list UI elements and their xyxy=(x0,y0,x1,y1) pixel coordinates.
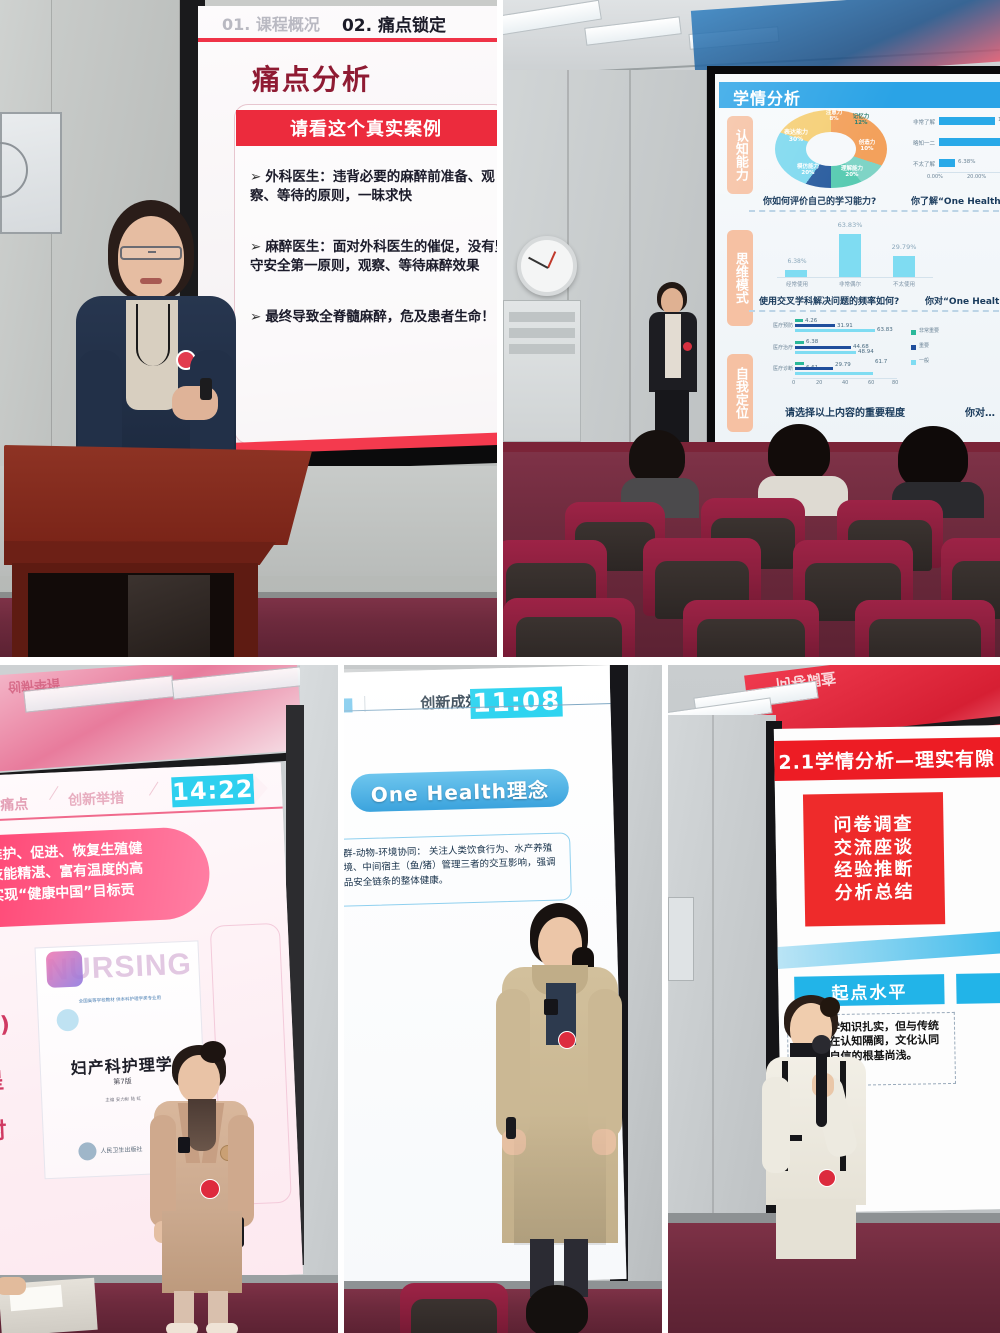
ribbon-label: 请看这个真实案例 xyxy=(290,115,442,141)
lecturer-3 xyxy=(148,1045,258,1333)
hair xyxy=(898,426,968,490)
ghbar-1-s2 xyxy=(795,351,856,354)
panel-bottom-right[interactable]: 问卷调查 2.1学情分析—理实有隙 问卷调查 交流座谈 经验推断 分析总结 xyxy=(668,665,1000,1333)
chart-2-question: 你了解“One Health”理念吗? xyxy=(911,194,1000,207)
donut-label-1: 注意力8% xyxy=(821,110,847,122)
hbar-value-2: 6.38% xyxy=(958,159,975,165)
donut-label-2: 记忆力12% xyxy=(847,114,875,126)
seat[interactable] xyxy=(855,600,995,657)
nav-underline xyxy=(198,38,497,42)
vbar-label-2: 不太使用 xyxy=(883,280,925,288)
methods-line-2: 交流座谈 xyxy=(834,836,914,860)
led-wall-screen: 学情分析 认知能力 思维模式 自我定位 表达能力30% 注意力8% 记忆力12%… xyxy=(715,74,1000,446)
methods-line-3: 经验推断 xyxy=(834,859,914,883)
headline-blob: …、维护、促进、恢复生殖健 …、技能精湛、富有温度的高 …、实现“健康中国”目标… xyxy=(0,826,211,929)
lecturer-1 xyxy=(60,200,260,460)
chart-6-question-partial: 你对… xyxy=(965,404,1000,419)
legend-label-0: 非常重要 xyxy=(919,327,939,334)
coat-shadow xyxy=(514,1113,606,1245)
slide-nav: 01. 课程概况 02. 痛点锁定 xyxy=(198,8,497,38)
lecturer-5 xyxy=(764,995,872,1285)
timer-badge: 11:08 xyxy=(470,686,563,719)
legend-dot-2 xyxy=(911,360,916,365)
chart-grouped-hbar-importance: 医疗预防 4.26 31.91 63.83 医疗治疗 6.38 44.68 48… xyxy=(761,318,941,396)
shoe-left xyxy=(166,1323,198,1333)
inner-top xyxy=(665,314,681,378)
microphone-head xyxy=(812,1035,831,1054)
left-wall-seam xyxy=(712,715,714,1215)
wall-fixture xyxy=(668,897,694,981)
glasses-icon xyxy=(120,246,182,260)
bullet-2: ➢麻醉医生：面对外科医生的催促，没有坚守安全第一原则，观察、等待麻醉效果 xyxy=(250,238,497,275)
lecturer-4 xyxy=(496,903,624,1313)
arm-left xyxy=(762,1077,790,1173)
chart-3-question: 使用交叉学科解决问题的频率如何? xyxy=(759,294,899,307)
mic-pack xyxy=(178,1137,190,1153)
nav-item-pain[interactable]: 教学痛点 xyxy=(0,794,29,816)
ghbar-val-2-s2: 61.7 xyxy=(875,359,887,365)
section-divider-2 xyxy=(749,310,999,312)
donut-label-4: 理解能力20% xyxy=(837,166,867,178)
methods-line-1: 问卷调查 xyxy=(833,814,913,838)
category-tag-selfposition[interactable]: 自我定位 xyxy=(727,354,753,432)
vbar-value-1: 63.83% xyxy=(829,221,871,229)
hbar-axis xyxy=(937,172,1000,173)
badge xyxy=(818,1169,836,1187)
donut-hole xyxy=(806,132,855,166)
ghbar-2-s2 xyxy=(795,372,873,375)
panel-bottom-center[interactable]: 创新成效 11:08 One Health理念 人群-动物-环境协同： 关注人类… xyxy=(344,665,662,1333)
ghbar-tick-4: 80 xyxy=(892,380,898,386)
slide-title: 痛点分析 xyxy=(252,58,372,98)
slide-header-label: 2.1学情分析—理实有隙 xyxy=(778,744,995,775)
donut-label-0: 表达能力30% xyxy=(779,130,813,143)
publisher-logo xyxy=(78,1142,97,1161)
vbar-label-0: 经常使用 xyxy=(777,280,817,288)
legend-dot-0 xyxy=(911,330,916,335)
vbar-axis xyxy=(777,277,933,278)
ghbar-tick-1: 20 xyxy=(816,380,822,386)
hbar-label-2: 不太了解 xyxy=(899,160,935,168)
mouth xyxy=(140,278,162,284)
vbar-value-0: 6.38% xyxy=(777,258,817,265)
vbar-value-2: 29.79% xyxy=(883,243,925,251)
panel-top-left[interactable]: 01. 课程概况 02. 痛点锁定 痛点分析 请看这个真实案例 ➢外科医生：违背… xyxy=(0,0,497,657)
timer-badge: 14:22 xyxy=(171,774,254,808)
bullet-lead: 外科医生： xyxy=(265,169,333,185)
photo-collage: 01. 课程概况 02. 痛点锁定 痛点分析 请看这个真实案例 ➢外科医生：违背… xyxy=(0,0,1000,1333)
body-text: 人群-动物-环境协同： 关注人类饮食行为、水产养殖环境、中间宿主（鱼/猪）管理三… xyxy=(344,843,556,889)
chart-hbar-one-health-awareness: 非常了解 19.15% 略知一二 74.47% 不太了解 6.38% 0.00%… xyxy=(909,114,1000,190)
side-wall-seam-2 xyxy=(629,70,631,442)
section-divider-1 xyxy=(749,210,999,212)
audience-1 xyxy=(619,430,703,510)
ghbar-label-1: 医疗治疗 xyxy=(753,344,793,351)
wall-panel-a xyxy=(0,0,52,470)
glasses-bridge xyxy=(148,251,156,253)
clicker-remote xyxy=(200,378,212,400)
cabinet-row-3 xyxy=(509,344,575,354)
gutter-horizontal xyxy=(0,657,1000,665)
scarf xyxy=(188,1099,216,1151)
book-fineprint: 全国高等学校教材 供本科护理学类专业用 xyxy=(54,994,186,1007)
nursing-mark-shape xyxy=(46,950,84,988)
vbar-1 xyxy=(839,234,861,277)
badge xyxy=(200,1179,220,1199)
bullet-1: ➢外科医生：违背必要的麻醉前准备、观察、等待的原则，一昧求快 xyxy=(250,168,497,205)
chart-5-question: 请选择以上内容的重要程度 xyxy=(785,404,905,419)
ghbar-val-2-s1: 29.79 xyxy=(835,362,851,368)
hair xyxy=(526,1285,588,1333)
section-pill-title: One Health理念 xyxy=(350,768,569,812)
cabinet-row-1 xyxy=(509,312,575,322)
badge xyxy=(683,342,692,351)
seat[interactable] xyxy=(503,598,635,657)
body-textbox: 人群-动物-环境协同： 关注人类饮食行为、水产养殖环境、中间宿主（鱼/猪）管理三… xyxy=(344,832,572,907)
donut-label-5: 模仿能力20% xyxy=(791,164,825,176)
ghbar-label-2: 医疗诊断 xyxy=(753,365,793,372)
lecturer-2 xyxy=(643,282,703,442)
ghbar-val-1-s0: 6.38 xyxy=(806,339,818,345)
right-wall-strip xyxy=(300,665,338,1333)
ghbar-0-s0 xyxy=(795,319,803,322)
badge xyxy=(558,1031,576,1049)
category-tag-cognitive[interactable]: 认知能力 xyxy=(727,116,753,194)
ghbar-2-s0 xyxy=(795,362,804,365)
panel-top-right[interactable]: 学情分析 认知能力 思维模式 自我定位 表达能力30% 注意力8% 记忆力12%… xyxy=(503,0,1000,657)
startpoint-header-right xyxy=(956,973,1000,1004)
face xyxy=(661,288,683,314)
ghbar-0-s1 xyxy=(795,324,835,327)
ghbar-val-0-s2: 63.83 xyxy=(877,327,893,333)
ghbar-0-s2 xyxy=(795,329,875,332)
skirt-bottom xyxy=(162,1211,242,1293)
hbar-tick-1: 20.00% xyxy=(967,174,986,180)
nav-item-01[interactable]: 01. 课程概况 xyxy=(222,11,320,35)
hand-on-desk xyxy=(0,1277,26,1295)
chart-donut-learning-ability: 表达能力30% 注意力8% 记忆力12% 创造力10% 理解能力20% 模仿能力… xyxy=(775,110,887,188)
timer-arrow xyxy=(253,773,268,804)
dashboard-header-label: 学情分析 xyxy=(733,85,801,109)
book-seal xyxy=(56,1009,79,1032)
ghbar-tick-0: 0 xyxy=(792,380,795,386)
mic-pack xyxy=(544,999,558,1015)
ghbar-label-0: 医疗预防 xyxy=(753,322,793,329)
shoe-right xyxy=(206,1323,238,1333)
ghbar-val-1-s2: 48.94 xyxy=(858,349,874,355)
bullet-marker: ➢ xyxy=(250,169,261,185)
methods-box: 问卷调查 交流座谈 经验推断 分析总结 xyxy=(803,792,945,926)
hair xyxy=(629,430,685,484)
donut-label-3: 创造力10% xyxy=(853,140,881,152)
slide-ribbon: 请看这个真实案例 xyxy=(254,110,497,146)
hbar-1 xyxy=(939,138,1000,146)
gutter-vertical-bl xyxy=(338,665,344,1333)
ghbar-tick-3: 60 xyxy=(868,380,874,386)
hbar-label-0: 非常了解 xyxy=(899,118,935,126)
seat[interactable] xyxy=(683,600,819,657)
hbar-0 xyxy=(939,117,995,125)
chart-1-question: 你如何评价自己的学习能力? xyxy=(763,194,876,207)
hair-bun xyxy=(200,1041,226,1063)
hair xyxy=(768,424,830,482)
legend-dot-1 xyxy=(911,345,916,350)
right-wall-strip xyxy=(626,665,662,1333)
methods-line-4: 分析总结 xyxy=(834,881,914,905)
nav-item-02[interactable]: 02. 痛点锁定 xyxy=(342,11,446,36)
legend-label-2: 一般 xyxy=(919,357,929,364)
side-fragment-2: 下) xyxy=(0,1007,11,1040)
chart-vbar-interdisciplinary-frequency: 6.38% 经常使用 63.83% 非常偶尔 29.79% 不太使用 xyxy=(777,218,937,290)
ghbar-1-s0 xyxy=(795,341,804,344)
panel-bottom-left[interactable]: 创新举措 教学痛点 创新举措 14:22 …、维护、促进、恢复生殖健 …、技能精… xyxy=(0,665,338,1333)
hbar-2 xyxy=(939,159,955,167)
bullet-text: 最终导致全脊髓麻醉，危及患者生命！ xyxy=(265,309,495,325)
cabinet-row-2 xyxy=(509,328,575,338)
ghbar-axis xyxy=(793,378,897,379)
ghbar-1-s1 xyxy=(795,346,851,349)
audience-head xyxy=(518,1285,598,1333)
hbar-tick-0: 0.00% xyxy=(927,174,943,180)
vbar-0 xyxy=(785,270,807,277)
gutter-vertical-br xyxy=(662,665,668,1333)
nav-item-innovation[interactable]: 创新举措 xyxy=(68,787,125,809)
bullet-lead: 麻醉医生： xyxy=(265,239,333,255)
bullet-3: ➢最终导致全脊髓麻醉，危及患者生命！ xyxy=(250,308,497,327)
ghbar-2-s1 xyxy=(795,367,833,370)
lanyard-mic xyxy=(136,304,170,366)
skirt xyxy=(776,1199,856,1259)
chart-4-question-partial: 你对“One Health”了解多久了? xyxy=(925,294,1000,307)
legend-label-1: 重要 xyxy=(919,342,929,349)
vbar-2 xyxy=(893,256,915,277)
podium xyxy=(0,445,312,657)
gutter-vertical-top xyxy=(497,0,503,657)
hair-bun xyxy=(820,997,840,1017)
slide-header: 2.1学情分析—理实有隙 xyxy=(774,737,1000,781)
ghbar-tick-2: 40 xyxy=(842,380,848,386)
seat[interactable] xyxy=(400,1283,508,1333)
vbar-label-1: 非常偶尔 xyxy=(829,280,871,288)
hbar-label-1: 略知一二 xyxy=(899,139,935,147)
book-publisher: 人民卫生出版社 xyxy=(100,1144,142,1155)
